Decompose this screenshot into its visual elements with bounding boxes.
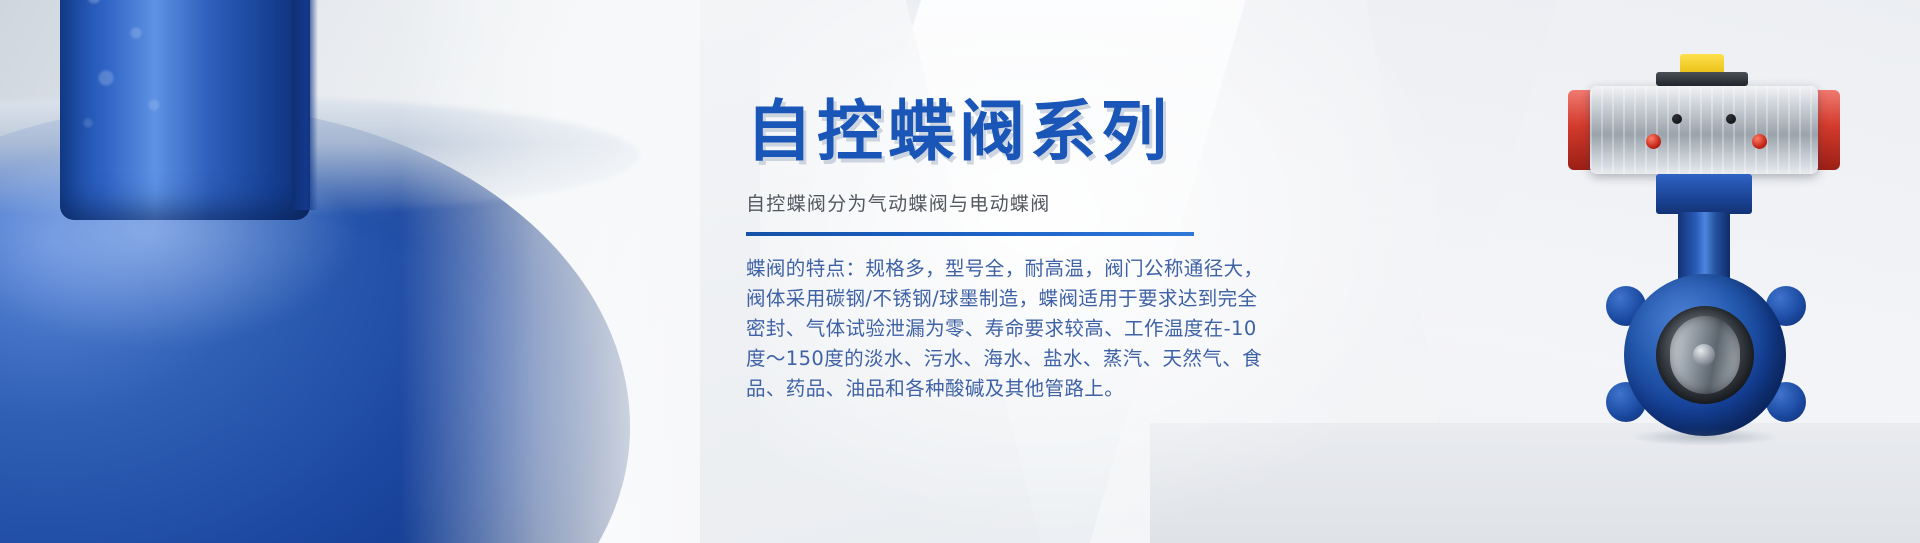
left-product-image (0, 0, 700, 543)
banner-copy-block: 自控蝶阀系列 自控蝶阀分为气动蝶阀与电动蝶阀 蝶阀的特点：规格多，型号全，耐高温… (746, 96, 1466, 404)
description-line: 品、药品、油品和各种酸碱及其他管路上。 (746, 374, 1198, 404)
left-image-fade (400, 0, 700, 543)
right-product-image (1560, 30, 1860, 450)
banner-description: 蝶阀的特点：规格多，型号全，耐高温，阀门公称通径大， 阀体采用碳钢/不锈钢/球墨… (746, 254, 1198, 404)
actuator-air-port-right (1752, 134, 1767, 149)
description-line: 度～150度的淡水、污水、海水、盐水、蒸汽、天然气、食 (746, 344, 1198, 374)
description-line: 阀体采用碳钢/不锈钢/球墨制造，蝶阀适用于要求达到完全 (746, 284, 1198, 314)
valve-stem-texture (70, 0, 190, 150)
actuator-air-port-left (1646, 134, 1661, 149)
actuator-cylinder-fins (1590, 86, 1818, 174)
description-line: 密封、气体试验泄漏为零、寿命要求较高、工作温度在-10 (746, 314, 1198, 344)
banner-subheadline: 自控蝶阀分为气动蝶阀与电动蝶阀 (746, 189, 1466, 216)
banner-headline: 自控蝶阀系列 (746, 96, 1466, 167)
description-line: 蝶阀的特点：规格多，型号全，耐高温，阀门公称通径大， (746, 254, 1198, 284)
product-banner: 自控蝶阀系列 自控蝶阀分为气动蝶阀与电动蝶阀 蝶阀的特点：规格多，型号全，耐高温… (0, 0, 1920, 543)
actuator-position-indicator (1680, 54, 1724, 74)
product-drop-shadow (1630, 428, 1780, 446)
actuator-mounting-bracket (1656, 174, 1752, 214)
valve-stem-edge (292, 0, 318, 210)
valve-disc-hub (1693, 344, 1715, 366)
actuator-bolt-right (1726, 114, 1736, 124)
actuator-bolt-left (1672, 114, 1682, 124)
banner-divider-rule (746, 232, 1194, 236)
actuator-top-plate (1656, 72, 1748, 86)
